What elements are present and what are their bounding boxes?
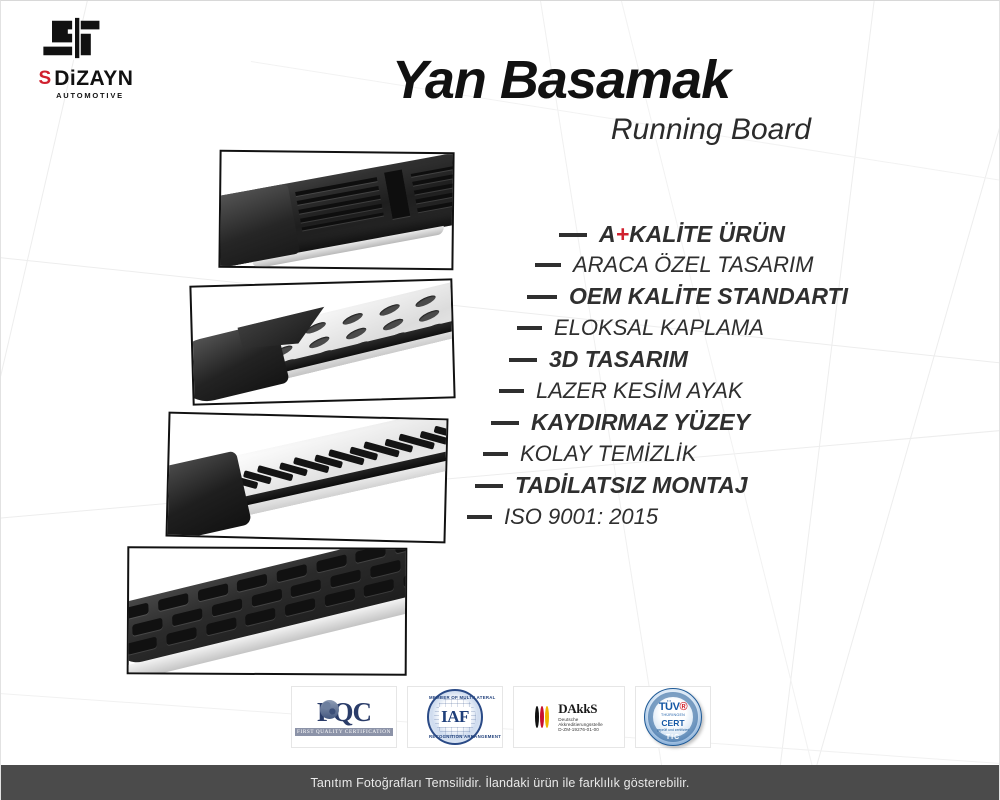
certificate-dakks: DAkkS Deutsche Akkreditierungsstelle D-Z… — [513, 686, 625, 748]
running-board-illustration — [127, 546, 408, 675]
feature-label: OEM KALİTE STANDARTI — [569, 285, 848, 308]
product-photo-4 — [127, 546, 408, 675]
feature-bullet-dash — [491, 421, 519, 425]
dakks-mark-icon — [535, 704, 555, 730]
footer-disclaimer-bar: Tanıtım Fotoğrafları Temsilidir. İlandak… — [1, 765, 999, 800]
feature-label: KOLAY TEMİZLİK — [520, 443, 696, 465]
feature-bullet-dash — [499, 389, 524, 393]
feature-label: ARACA ÖZEL TASARIM — [573, 254, 813, 276]
feature-label: ELOKSAL KAPLAMA — [554, 317, 764, 339]
footer-disclaimer-text: Tanıtım Fotoğrafları Temsilidir. İlandak… — [310, 776, 689, 790]
dakks-line3: D-ZM-19276-01-00 — [558, 727, 602, 732]
feature-item: 3D TASARIM — [441, 348, 921, 371]
running-board-illustration — [189, 278, 455, 405]
feature-label: 3D TASARIM — [549, 348, 688, 371]
feature-bullet-dash — [559, 233, 587, 237]
tuv-ring-text: TIC — [645, 734, 701, 741]
logo-brand-name: DiZAYN — [54, 68, 133, 89]
s-dizayn-logo-mark — [39, 15, 111, 61]
background-line — [0, 0, 97, 800]
globe-icon — [320, 700, 339, 719]
feature-bullet-dash — [475, 484, 503, 488]
feature-accent-char: + — [616, 221, 629, 247]
feature-bullet-dash — [467, 515, 492, 519]
product-photo-3 — [166, 412, 449, 544]
tuv-seal-icon: TÜV® THÜRINGEN CERT geprüft und zertifiz… — [644, 688, 702, 746]
feature-label: TADİLATSIZ MONTAJ — [515, 474, 748, 497]
feature-list: A+KALİTE ÜRÜNARACA ÖZEL TASARIMOEM KALİT… — [441, 223, 921, 528]
feature-bullet-dash — [483, 452, 508, 456]
feature-item: TADİLATSIZ MONTAJ — [441, 474, 921, 497]
feature-label: KAYDIRMAZ YÜZEY — [531, 411, 750, 434]
feature-item: A+KALİTE ÜRÜN — [441, 223, 921, 246]
certificate-tuv: TÜV® THÜRINGEN CERT geprüft und zertifiz… — [635, 686, 711, 748]
product-photo-2 — [189, 278, 455, 405]
feature-item: LAZER KESİM AYAK — [441, 380, 921, 402]
feature-bullet-dash — [509, 358, 537, 362]
feature-label: A+KALİTE ÜRÜN — [599, 223, 785, 246]
page-title: Yan Basamak — [301, 53, 821, 107]
product-gallery — [119, 151, 459, 681]
logo-accent-letter: S — [39, 69, 51, 88]
logo-tagline: AUTOMOTIVE — [29, 91, 151, 100]
product-banner: S DiZAYN AUTOMOTIVE Yan Basamak Running … — [0, 0, 1000, 800]
feature-bullet-dash — [517, 326, 542, 330]
title-block: Yan Basamak Running Board — [301, 53, 821, 147]
iaf-top-text: MEMBER OF MULTILATERAL — [429, 695, 481, 700]
fqc-label: FQC — [295, 699, 393, 726]
running-board-illustration — [218, 150, 454, 270]
brand-logo: S DiZAYN AUTOMOTIVE — [21, 15, 151, 100]
certificate-fqc: FQC FIRST QUALITY CERTIFICATION — [291, 686, 397, 748]
feature-label: LAZER KESİM AYAK — [536, 380, 743, 402]
certification-badges: FQC FIRST QUALITY CERTIFICATION MEMBER O… — [291, 683, 711, 751]
feature-bullet-dash — [527, 295, 557, 299]
dakks-label: DAkkS — [558, 702, 602, 717]
fqc-subtitle: FIRST QUALITY CERTIFICATION — [295, 728, 393, 736]
iaf-seal-icon: MEMBER OF MULTILATERAL IAF RECOGNITION A… — [427, 689, 483, 745]
feature-item: OEM KALİTE STANDARTI — [441, 285, 921, 308]
feature-item: ELOKSAL KAPLAMA — [441, 317, 921, 339]
feature-item: ARACA ÖZEL TASARIM — [441, 254, 921, 276]
certificate-iaf: MEMBER OF MULTILATERAL IAF RECOGNITION A… — [407, 686, 503, 748]
iaf-label: IAF — [439, 707, 471, 727]
iaf-bottom-text: RECOGNITION ARRANGEMENT — [429, 734, 481, 739]
running-board-illustration — [166, 412, 449, 544]
feature-label: ISO 9001: 2015 — [504, 506, 658, 528]
product-photo-1 — [218, 150, 454, 270]
page-subtitle: Running Board — [301, 113, 821, 147]
feature-item: KAYDIRMAZ YÜZEY — [441, 411, 921, 434]
feature-item: KOLAY TEMİZLİK — [441, 443, 921, 465]
feature-item: ISO 9001: 2015 — [441, 506, 921, 528]
feature-bullet-dash — [535, 263, 561, 267]
